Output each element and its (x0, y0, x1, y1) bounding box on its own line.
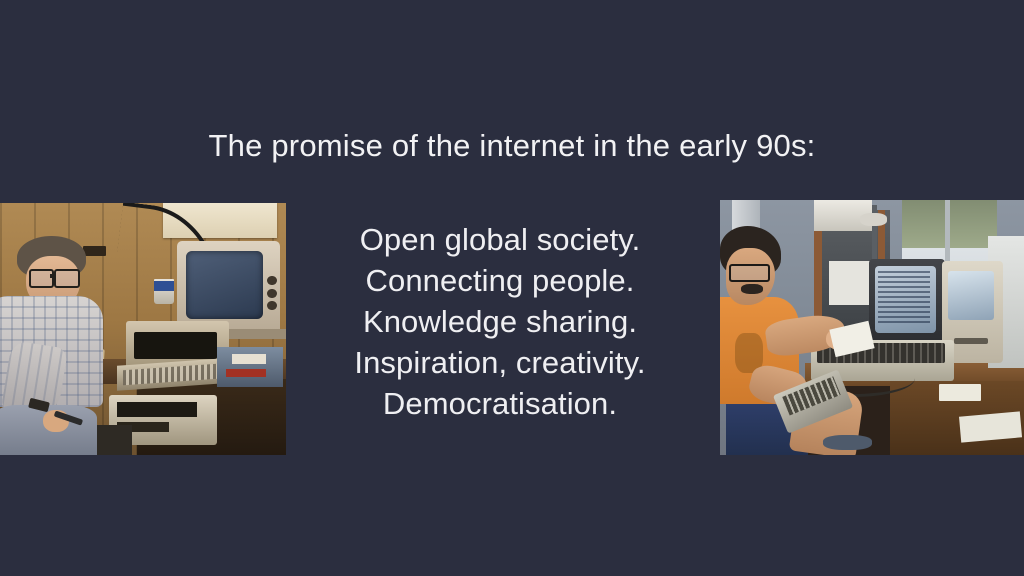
monitor-knob (267, 276, 276, 285)
shoe (823, 435, 872, 450)
eyeglasses (729, 264, 769, 282)
macintosh-screen (948, 271, 994, 319)
desk-lamp-head (860, 213, 887, 226)
eyeglasses-bridge (50, 274, 56, 278)
right-photo-scene (720, 200, 1024, 455)
slide-title: The promise of the internet in the early… (0, 128, 1024, 164)
red-tape-strip (226, 369, 266, 377)
body-line-4: Inspiration, creativity. (212, 342, 788, 383)
disk-drive-slot (117, 402, 197, 417)
eyeglasses-lens (54, 269, 79, 288)
monitor-knob (267, 301, 276, 310)
vintage-computer-user-left-photo (0, 203, 286, 455)
body-line-1: Open global society. (212, 219, 788, 260)
presentation-slide: The promise of the internet in the early… (0, 0, 1024, 576)
mug-stripe (154, 281, 174, 291)
body-line-2: Connecting people. (212, 260, 788, 301)
monitor-knob (267, 289, 276, 298)
person-moustache (741, 284, 762, 294)
slide-body-text: Open global society. Connecting people. … (212, 219, 788, 424)
crt-monitor-screen (186, 251, 263, 319)
floppy-drive-slot (954, 338, 987, 345)
vintage-computer-user-right-photo (720, 200, 1024, 455)
paper-stack (939, 384, 982, 402)
terminal-screen-text (878, 271, 930, 325)
storage-box-label (232, 354, 266, 364)
storage-box (217, 347, 283, 387)
left-photo-scene (0, 203, 286, 455)
shelf-papers (829, 261, 872, 304)
eyeglasses-lens (29, 269, 54, 288)
body-line-5: Democratisation. (212, 383, 788, 424)
printer-paper-slot (134, 332, 217, 360)
body-line-3: Knowledge sharing. (212, 301, 788, 342)
wall-vent (83, 246, 106, 256)
